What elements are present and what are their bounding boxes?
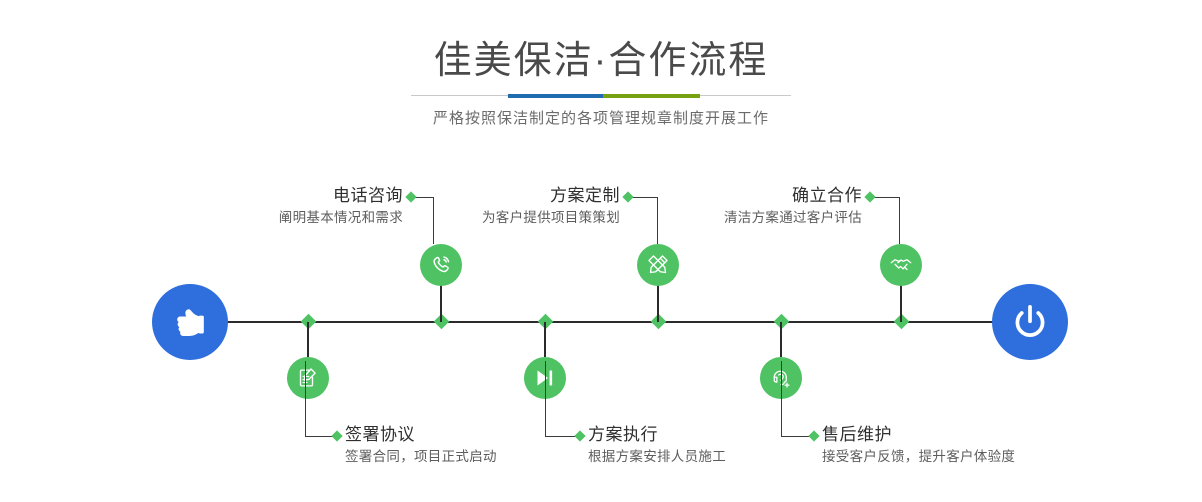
step-desc-plan-custom: 为客户提供项目策策划	[482, 207, 620, 228]
step-label-plan-custom: 方案定制为客户提供项目策策划	[482, 185, 620, 228]
step-title-establish-cooperation: 确立合作	[724, 185, 862, 207]
timeline-stem-sign-agreement	[307, 322, 309, 357]
timeline-stem-phone-consult	[440, 280, 442, 322]
flowchart-canvas: 佳美保洁·合作流程 严格按照保洁制定的各项管理规章制度开展工作 电话咨询阐明基本…	[0, 0, 1202, 502]
page-title: 佳美保洁·合作流程	[0, 38, 1202, 84]
timeline-end-node[interactable]	[992, 284, 1068, 360]
step-title-after-sales: 售后维护	[822, 424, 1015, 446]
step-label-phone-consult: 电话咨询阐明基本情况和需求	[279, 185, 403, 228]
pointing-hand-icon	[168, 300, 212, 344]
step-icon-plan-custom[interactable]	[637, 244, 679, 286]
step-icon-phone-consult[interactable]	[420, 244, 462, 286]
timeline-stem-after-sales	[780, 322, 782, 357]
step-title-plan-execute: 方案执行	[588, 424, 726, 446]
pencil-ruler-icon	[646, 253, 670, 277]
step-label-plan-execute: 方案执行根据方案安排人员施工	[588, 424, 726, 467]
power-icon	[1007, 299, 1053, 345]
step-desc-phone-consult: 阐明基本情况和需求	[279, 207, 403, 228]
step-label-after-sales: 售后维护接受客户反馈，提升客户体验度	[822, 424, 1015, 467]
step-desc-after-sales: 接受客户反馈，提升客户体验度	[822, 446, 1015, 467]
step-title-plan-custom: 方案定制	[482, 185, 620, 207]
step-label-establish-cooperation: 确立合作清洁方案通过客户评估	[724, 185, 862, 228]
step-title-sign-agreement: 签署协议	[345, 424, 497, 446]
document-pencil-icon	[296, 366, 320, 390]
phone-call-icon	[429, 253, 453, 277]
title-divider	[411, 94, 791, 98]
handshake-icon	[889, 253, 913, 277]
timeline-stem-plan-execute	[544, 322, 546, 357]
step-desc-establish-cooperation: 清洁方案通过客户评估	[724, 207, 862, 228]
step-desc-sign-agreement: 签署合同，项目正式启动	[345, 446, 497, 467]
timeline-start-node[interactable]	[152, 284, 228, 360]
timeline-stem-establish-cooperation	[900, 280, 902, 322]
step-icon-sign-agreement[interactable]	[287, 357, 329, 399]
divider-segment-blue	[508, 94, 603, 98]
divider-segment-olive	[603, 94, 700, 98]
step-label-sign-agreement: 签署协议签署合同，项目正式启动	[345, 424, 497, 467]
timeline-stem-plan-custom	[657, 280, 659, 322]
page-subtitle: 严格按照保洁制定的各项管理规章制度开展工作	[0, 106, 1202, 132]
step-desc-plan-execute: 根据方案安排人员施工	[588, 446, 726, 467]
step-icon-establish-cooperation[interactable]	[880, 244, 922, 286]
step-title-phone-consult: 电话咨询	[279, 185, 403, 207]
